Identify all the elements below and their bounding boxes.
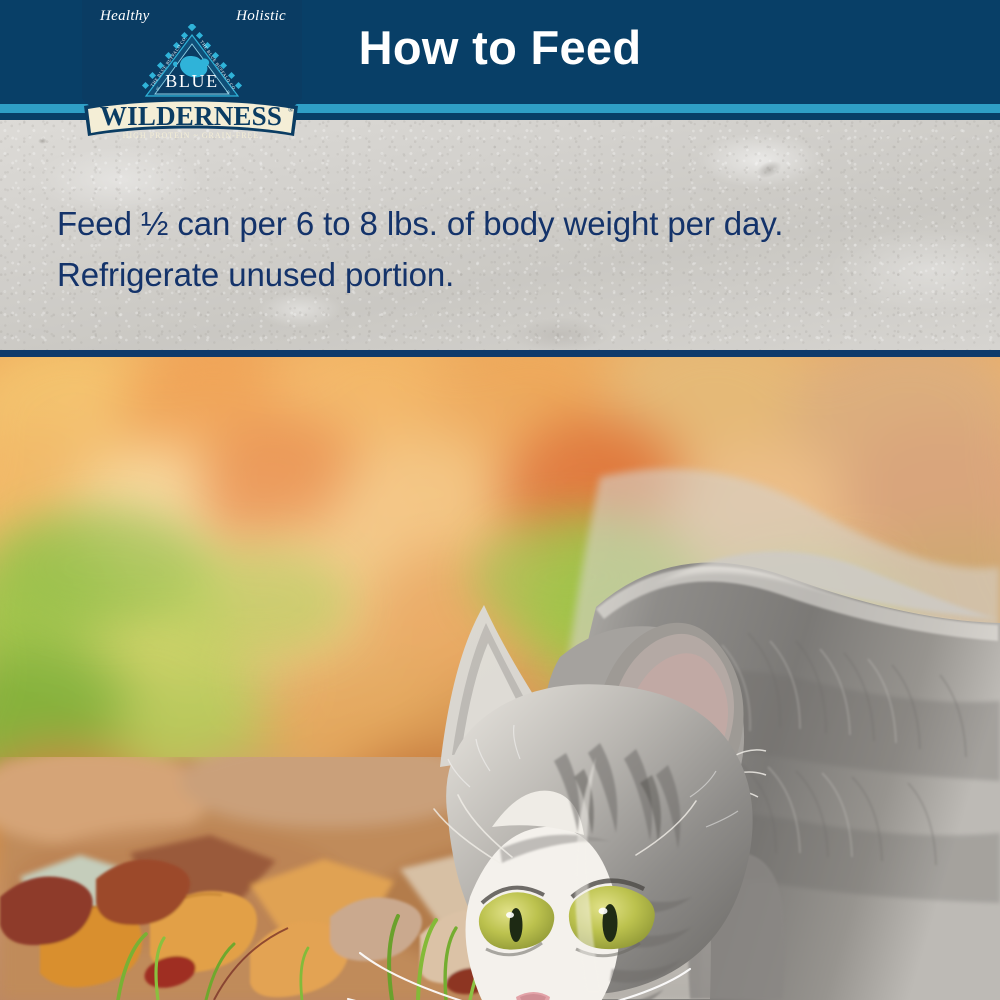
lifestyle-photo <box>0 357 1000 1000</box>
feeding-instructions: Feed ½ can per 6 to 8 lbs. of body weigh… <box>57 198 947 300</box>
cat-subject <box>0 357 1000 1000</box>
badge-brand-text: BLUE <box>165 71 218 91</box>
banner-word-text: WILDERNESS <box>100 101 282 131</box>
logo-tagline-left: Healthy <box>100 8 150 25</box>
stone-speck-mark <box>38 138 47 144</box>
banner-trademark-text: ® <box>288 106 294 114</box>
feeding-instructions-line-2: Refrigerate unused portion. <box>57 249 947 300</box>
instructions-panel: Feed ½ can per 6 to 8 lbs. of body weigh… <box>0 120 1000 350</box>
feeding-instructions-line-1: Feed ½ can per 6 to 8 lbs. of body weigh… <box>57 198 947 249</box>
banner-subtitle-text: HIGH PROTEIN ~ GRAIN-FREE <box>123 131 260 140</box>
brand-logo: Healthy Holistic <box>82 0 302 152</box>
wilderness-banner: WILDERNESS ® HIGH PROTEIN ~ GRAIN-FREE <box>80 92 302 144</box>
product-detail-panel: How to Feed Healthy Holistic <box>0 0 1000 1000</box>
panel-divider-rule <box>0 350 1000 357</box>
logo-tagline-right: Holistic <box>236 8 286 25</box>
